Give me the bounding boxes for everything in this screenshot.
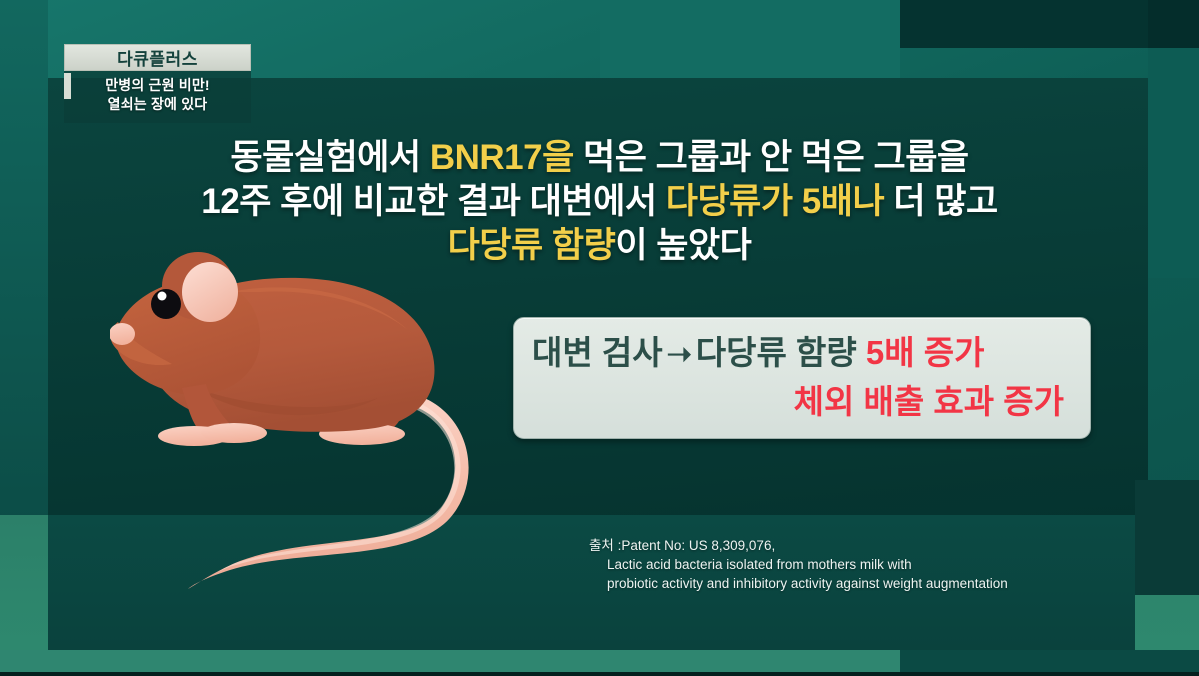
program-subtitle-line-1: 만병의 근원 비만! <box>64 76 251 95</box>
mouse-icon <box>110 248 570 593</box>
mouse-illustration <box>110 248 570 593</box>
mouse-ear-inner <box>182 262 238 322</box>
result-callout-box: 대변 검사➝다당류 함량 5배 증가 체외 배출 효과 증가 <box>513 317 1091 439</box>
callout-test-label: 대변 검사 <box>532 334 663 371</box>
accent-bar <box>64 73 71 99</box>
headline-line-1-part-a: 동물실험에서 <box>230 138 429 177</box>
headline-line-2-part-a: 12주 후에 비교한 결과 대변에서 <box>201 182 665 221</box>
source-patent-number: Patent No: US 8,309,076, <box>621 536 775 555</box>
source-title-line-1: Lactic acid bacteria isolated from mothe… <box>589 555 1149 574</box>
mouse-eye-glint <box>158 292 167 301</box>
callout-line-1: 대변 검사➝다당류 함량 5배 증가 <box>532 329 1072 378</box>
callout-emphasis-1: 5배 증가 <box>866 334 985 371</box>
program-subtitle-line-2: 열쇠는 장에 있다 <box>64 95 251 114</box>
broadcast-graphic-slide: 다큐플러스 만병의 근원 비만! 열쇠는 장에 있다 동물실험에서 BNR17을… <box>0 0 1199 676</box>
headline-line-2-highlight: 다당류가 5배나 <box>666 182 884 221</box>
mouse-nose <box>110 323 135 345</box>
source-label: 출처 : <box>589 536 621 555</box>
program-title: 다큐플러스 <box>117 45 198 70</box>
source-citation: 출처 : Patent No: US 8,309,076, Lactic aci… <box>589 536 1149 593</box>
callout-metric-label: 다당류 함량 <box>696 334 857 371</box>
callout-line-2: 체외 배출 효과 증가 <box>532 378 1072 425</box>
program-subtitle-block: 만병의 근원 비만! 열쇠는 장에 있다 <box>64 71 251 123</box>
headline-line-2-part-b: 더 많고 <box>884 182 998 221</box>
program-title-bar: 다큐플러스 <box>64 44 251 71</box>
headline-line-2: 12주 후에 비교한 결과 대변에서 다당류가 5배나 더 많고 <box>0 180 1199 224</box>
headline-line-1-part-b: 먹은 그룹과 안 먹은 그룹을 <box>574 138 969 177</box>
program-badge: 다큐플러스 만병의 근원 비만! 열쇠는 장에 있다 <box>64 44 251 123</box>
background-bottom-edge-line <box>0 672 1199 676</box>
background-top-middle-block <box>600 0 900 78</box>
mouse-front-foot-front <box>201 423 267 443</box>
callout-emphasis-2: 체외 배출 효과 증가 <box>794 383 1064 420</box>
mouse-eye <box>151 289 181 319</box>
source-title-line-2: probiotic activity and inhibitory activi… <box>589 574 1149 593</box>
callout-metric-value <box>857 334 866 371</box>
headline-line-1-highlight: BNR17을 <box>430 138 574 177</box>
headline-line-1: 동물실험에서 BNR17을 먹은 그룹과 안 먹은 그룹을 <box>0 136 1199 180</box>
headline-line-3-part-b: 이 높았다 <box>615 226 751 265</box>
source-first-row: 출처 : Patent No: US 8,309,076, <box>589 536 1149 555</box>
arrow-right-icon: ➝ <box>663 338 696 371</box>
background-right-dark-block <box>1148 0 1199 48</box>
